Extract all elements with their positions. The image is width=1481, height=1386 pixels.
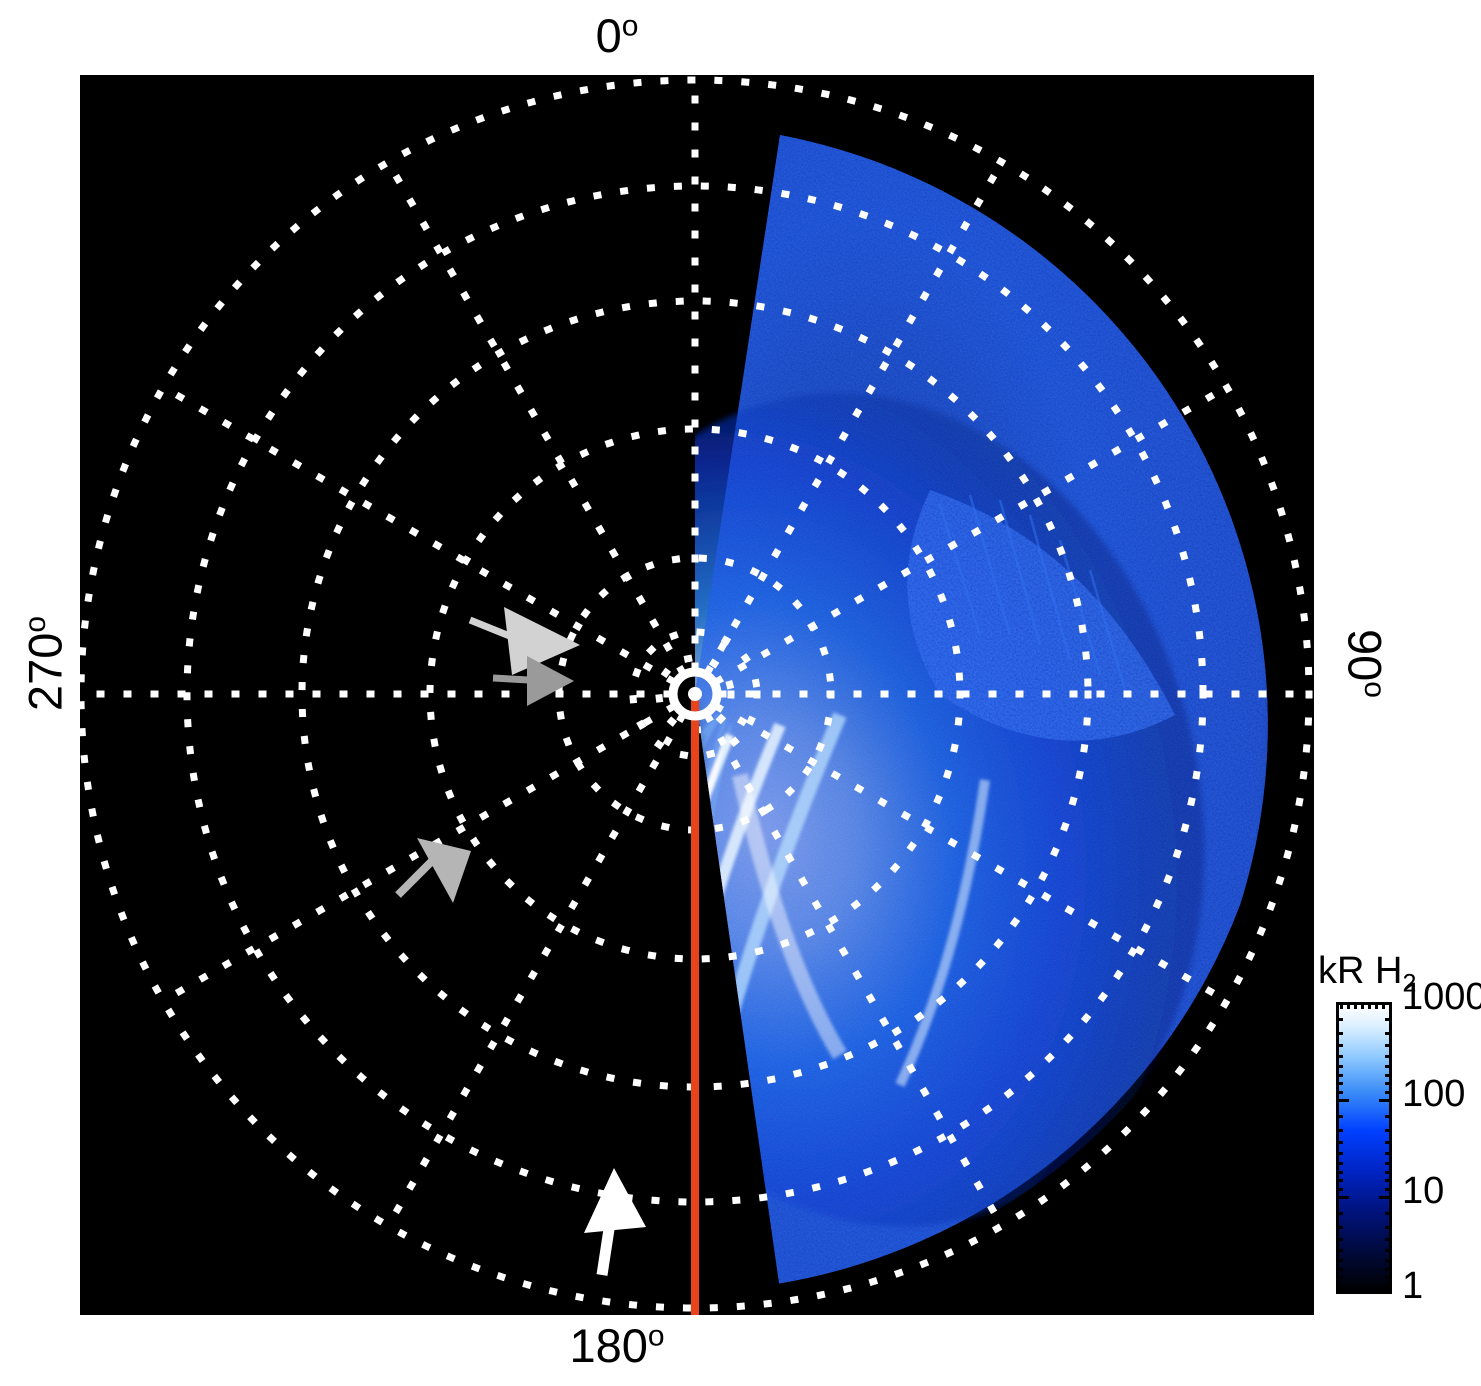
cb-minor-tick xyxy=(1336,1152,1343,1155)
cb-minor-tick xyxy=(1336,1284,1343,1287)
axis-label-180-degrees: 180o xyxy=(0,1322,1234,1369)
cb-minor-tick xyxy=(1336,1238,1343,1241)
colorbar-label-1: 1 xyxy=(1402,1267,1423,1305)
cb-top-tick xyxy=(1354,1002,1357,1009)
cb-minor-tick xyxy=(1385,1188,1392,1191)
axis-label-270-degrees: 270o xyxy=(22,584,69,744)
cb-minor-tick xyxy=(1385,1179,1392,1182)
cb-top-tick xyxy=(1340,1002,1343,1009)
cb-minor-tick xyxy=(1336,1249,1343,1252)
cb-top-tick xyxy=(1361,1002,1364,1009)
axis-label-0-degrees: 0o xyxy=(0,12,1234,59)
cb-top-tick xyxy=(1375,1002,1378,1009)
cb-minor-tick xyxy=(1336,1055,1343,1058)
cb-major-tick-100-right xyxy=(1379,1099,1392,1102)
cb-minor-tick xyxy=(1385,1259,1392,1262)
cb-minor-tick xyxy=(1385,1226,1392,1229)
cb-minor-tick xyxy=(1385,1238,1392,1241)
arrow-mid-gray-lower xyxy=(398,838,471,903)
cb-minor-tick xyxy=(1385,1032,1392,1035)
cb-minor-tick xyxy=(1336,1082,1343,1085)
cb-minor-tick xyxy=(1385,1141,1392,1144)
cb-minor-tick xyxy=(1385,1284,1392,1287)
polar-plot-panel xyxy=(80,75,1314,1315)
arrow-white-bottom xyxy=(584,1168,646,1275)
cb-minor-tick xyxy=(1385,1162,1392,1165)
cb-minor-tick xyxy=(1385,1152,1392,1155)
cb-minor-tick xyxy=(1385,1091,1392,1094)
cb-minor-tick xyxy=(1336,1032,1343,1035)
cb-minor-tick xyxy=(1385,1276,1392,1279)
cb-minor-tick xyxy=(1385,1115,1392,1118)
colorbar-label-1000: 1000 xyxy=(1402,978,1481,1016)
colorbar-ticks xyxy=(1336,1002,1392,1294)
cb-minor-tick xyxy=(1385,1055,1392,1058)
cb-minor-tick xyxy=(1336,1171,1343,1174)
cb-top-tick xyxy=(1347,1002,1350,1009)
cb-major-tick-10-right xyxy=(1379,1196,1392,1199)
cb-minor-tick xyxy=(1336,1091,1343,1094)
cb-minor-tick xyxy=(1385,1074,1392,1077)
cb-minor-tick xyxy=(1385,1065,1392,1068)
cb-minor-tick xyxy=(1336,1162,1343,1165)
cb-minor-tick xyxy=(1336,1018,1343,1021)
cb-minor-tick xyxy=(1385,1018,1392,1021)
cb-major-tick-1 xyxy=(1336,1291,1349,1294)
axis-label-90-degrees: 90o xyxy=(1342,584,1389,744)
cb-top-tick xyxy=(1368,1002,1371,1009)
cb-minor-tick xyxy=(1336,1212,1343,1215)
cb-minor-tick xyxy=(1336,1141,1343,1144)
colorbar-label-10: 10 xyxy=(1402,1172,1444,1210)
cb-minor-tick xyxy=(1385,1129,1392,1132)
cb-top-tick xyxy=(1382,1002,1385,1009)
cb-minor-tick xyxy=(1336,1074,1343,1077)
figure-root: 0o 180o 270o 90o kR H2 xyxy=(0,0,1481,1386)
cb-minor-tick xyxy=(1336,1276,1343,1279)
cb-minor-tick xyxy=(1336,1268,1343,1271)
cb-minor-tick xyxy=(1336,1129,1343,1132)
polar-plot-svg xyxy=(80,75,1314,1315)
cb-minor-tick xyxy=(1336,1044,1343,1047)
cb-minor-tick xyxy=(1385,1044,1392,1047)
cb-minor-tick xyxy=(1336,1259,1343,1262)
cb-major-tick-1000-right xyxy=(1379,1002,1392,1005)
cb-minor-tick xyxy=(1336,1179,1343,1182)
cb-minor-tick xyxy=(1385,1212,1392,1215)
cb-major-tick-1-right xyxy=(1379,1291,1392,1294)
cb-minor-tick xyxy=(1336,1188,1343,1191)
cb-minor-tick xyxy=(1385,1268,1392,1271)
aurora-emission-image xyxy=(460,135,1280,1289)
colorbar-label-100: 100 xyxy=(1402,1075,1465,1113)
cb-minor-tick xyxy=(1385,1249,1392,1252)
colorbar: kR H2 xyxy=(1318,950,1481,1330)
cb-major-tick-10 xyxy=(1336,1196,1349,1199)
cb-minor-tick xyxy=(1385,1171,1392,1174)
cb-minor-tick xyxy=(1336,1115,1343,1118)
cb-major-tick-100 xyxy=(1336,1099,1349,1102)
cb-minor-tick xyxy=(1336,1065,1343,1068)
cb-minor-tick xyxy=(1385,1082,1392,1085)
cb-minor-tick xyxy=(1336,1226,1343,1229)
